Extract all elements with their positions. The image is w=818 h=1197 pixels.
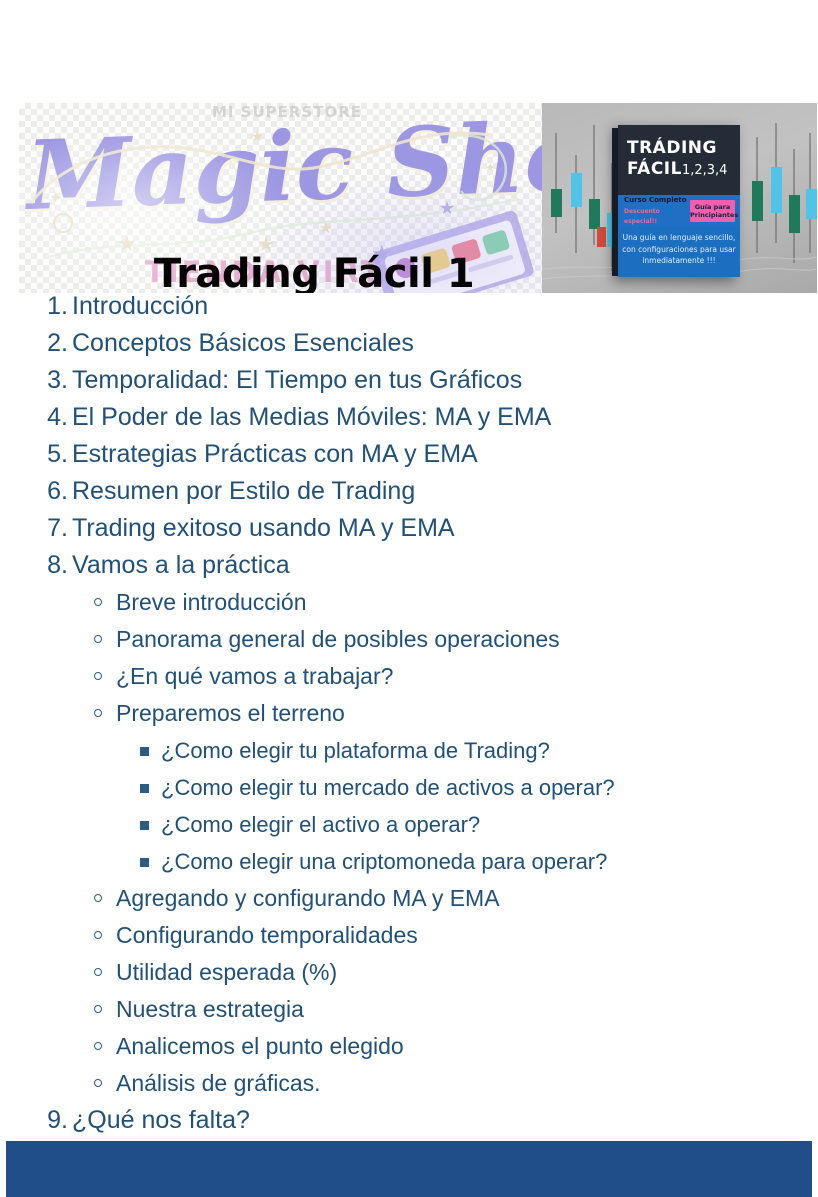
toc-item-7-label: Trading exitoso usando MA y EMA: [72, 514, 455, 542]
toc-item-4-number: 4: [44, 399, 68, 436]
circle-bullet-icon: [94, 931, 102, 939]
toc-item-3[interactable]: 3 Temporalidad: El Tiempo en tus Gráfico…: [72, 362, 818, 399]
square-bullet-icon: [140, 821, 149, 830]
toc-subitem-label: Nuestra estrategia: [116, 996, 304, 1022]
square-bullet-icon: [140, 784, 149, 793]
toc-item-9-number: 9: [44, 1102, 68, 1139]
toc-item-8-number: 8: [44, 547, 68, 584]
toc-level3-list: ¿Como elegir tu plataforma de Trading? ¿…: [116, 732, 818, 880]
toc-subitem-en-que-vamos-a-trabajar[interactable]: ¿En qué vamos a trabajar?: [116, 658, 818, 695]
book-cover-mockup: TRÁDING FÁCIL1,2,3,4 Curso Completo Desc…: [618, 125, 740, 277]
toc-item-5-number: 5: [44, 436, 68, 473]
toc-subitem-label: Agregando y configurando MA y EMA: [116, 885, 500, 911]
toc-subitem-label: Análisis de gráficas.: [116, 1070, 321, 1096]
circle-bullet-icon: [94, 1079, 102, 1087]
toc-subitem-label: Breve introducción: [116, 589, 307, 615]
toc-subitem-label: Preparemos el terreno: [116, 700, 345, 726]
book-title-line1: TRÁDING: [627, 138, 735, 159]
toc-subsubitem-activo[interactable]: ¿Como elegir el activo a operar?: [161, 806, 818, 843]
toc-item-6-label: Resumen por Estilo de Trading: [72, 477, 415, 505]
header-banner: MI SUPERSTORE Magic Shop ✦ ★ ★ ★ ★ ★ ★ ✦…: [19, 103, 817, 293]
square-bullet-icon: [140, 858, 149, 867]
circle-bullet-icon: [94, 598, 102, 606]
toc-item-5-label: Estrategias Prácticas con MA y EMA: [72, 440, 478, 468]
slide-page: MI SUPERSTORE Magic Shop ✦ ★ ★ ★ ★ ★ ★ ✦…: [0, 0, 818, 1197]
toc-item-8[interactable]: 8 Vamos a la práctica Breve introducción…: [72, 547, 818, 1102]
toc-item-9-label: ¿Qué nos falta?: [72, 1106, 250, 1134]
square-bullet-icon: [140, 747, 149, 756]
toc-subsubitem-label: ¿Como elegir una criptomoneda para opera…: [161, 849, 607, 874]
toc-subitem-agregando-configurando[interactable]: Agregando y configurando MA y EMA: [116, 880, 818, 917]
toc-item-2-label: Conceptos Básicos Esenciales: [72, 329, 414, 357]
book-subtitle: Una guía en lenguaje sencillo, con confi…: [618, 227, 740, 277]
banner-book-photo: TRÁDING FÁCIL1,2,3,4 Curso Completo Desc…: [542, 103, 817, 293]
book-badges: Curso Completo Descuento especial!! Guía…: [618, 195, 740, 227]
book-badge-left: Curso Completo Descuento especial!!: [618, 195, 690, 227]
circle-bullet-icon: [94, 894, 102, 902]
toc-subitem-breve-introduccion[interactable]: Breve introducción: [116, 584, 818, 621]
toc-item-6-number: 6: [44, 473, 68, 510]
toc-level2-list: Breve introducción Panorama general de p…: [72, 584, 818, 1102]
footer-accent-bar: [6, 1141, 812, 1197]
toc-subitem-label: ¿En qué vamos a trabajar?: [116, 663, 393, 689]
banner-artwork-left: MI SUPERSTORE Magic Shop ✦ ★ ★ ★ ★ ★ ★ ✦…: [19, 103, 542, 293]
toc-subsubitem-criptomoneda[interactable]: ¿Como elegir una criptomoneda para opera…: [161, 843, 818, 880]
toc-item-7-number: 7: [44, 510, 68, 547]
toc-item-6[interactable]: 6 Resumen por Estilo de Trading: [72, 473, 818, 510]
table-of-contents: 1 Introducción 2 Conceptos Básicos Esenc…: [0, 288, 818, 1139]
circle-bullet-icon: [94, 1042, 102, 1050]
toc-subitem-label: Analicemos el punto elegido: [116, 1033, 404, 1059]
circle-bullet-icon: [94, 1005, 102, 1013]
toc-item-1-number: 1: [44, 288, 68, 325]
toc-item-7[interactable]: 7 Trading exitoso usando MA y EMA: [72, 510, 818, 547]
toc-item-5[interactable]: 5 Estrategias Prácticas con MA y EMA: [72, 436, 818, 473]
toc-item-1[interactable]: 1 Introducción: [72, 288, 818, 325]
circle-bullet-icon: [94, 709, 102, 717]
circle-bullet-icon: [94, 635, 102, 643]
book-title-numbers: 1,2,3,4: [682, 163, 727, 178]
toc-item-3-number: 3: [44, 362, 68, 399]
toc-item-2[interactable]: 2 Conceptos Básicos Esenciales: [72, 325, 818, 362]
toc-subsubitem-plataforma[interactable]: ¿Como elegir tu plataforma de Trading?: [161, 732, 818, 769]
book-badge-descuento: Descuento especial!!: [624, 207, 690, 227]
toc-item-8-label: Vamos a la práctica: [72, 551, 290, 579]
toc-item-9[interactable]: 9 ¿Qué nos falta?: [72, 1102, 818, 1139]
book-badge-pink-line2: Principiantes: [690, 211, 738, 219]
toc-item-4-label: El Poder de las Medias Móviles: MA y EMA: [72, 403, 551, 431]
book-badge-pink-line1: Guía para: [695, 203, 730, 211]
book-title: TRÁDING FÁCIL1,2,3,4: [627, 138, 735, 181]
book-title-line2: FÁCIL: [627, 159, 682, 179]
toc-subitem-analicemos-punto[interactable]: Analicemos el punto elegido: [116, 1028, 818, 1065]
toc-item-2-number: 2: [44, 325, 68, 362]
toc-level1-list: 1 Introducción 2 Conceptos Básicos Esenc…: [0, 288, 818, 1139]
toc-subsubitem-mercado[interactable]: ¿Como elegir tu mercado de activos a ope…: [161, 769, 818, 806]
toc-subitem-preparemos-el-terreno[interactable]: Preparemos el terreno ¿Como elegir tu pl…: [116, 695, 818, 880]
toc-subsubitem-label: ¿Como elegir el activo a operar?: [161, 812, 480, 837]
toc-subitem-label: Configurando temporalidades: [116, 922, 418, 948]
toc-subitem-utilidad-esperada[interactable]: Utilidad esperada (%): [116, 954, 818, 991]
toc-subitem-nuestra-estrategia[interactable]: Nuestra estrategia: [116, 991, 818, 1028]
toc-subitem-panorama-general[interactable]: Panorama general de posibles operaciones: [116, 621, 818, 658]
toc-subsubitem-label: ¿Como elegir tu mercado de activos a ope…: [161, 775, 615, 800]
toc-subitem-label: Panorama general de posibles operaciones: [116, 626, 560, 652]
toc-item-4[interactable]: 4 El Poder de las Medias Móviles: MA y E…: [72, 399, 818, 436]
toc-subitem-label: Utilidad esperada (%): [116, 959, 337, 985]
circle-bullet-icon: [94, 968, 102, 976]
toc-item-3-label: Temporalidad: El Tiempo en tus Gráficos: [72, 366, 522, 394]
toc-subitem-analisis-graficas[interactable]: Análisis de gráficas.: [116, 1065, 818, 1102]
book-badge-principiantes: Guía para Principiantes: [690, 200, 735, 222]
toc-item-1-label: Introducción: [72, 292, 208, 320]
toc-subitem-configurando-temporalidades[interactable]: Configurando temporalidades: [116, 917, 818, 954]
circle-bullet-icon: [94, 672, 102, 680]
toc-subsubitem-label: ¿Como elegir tu plataforma de Trading?: [161, 738, 550, 763]
book-badge-curso: Curso Completo: [624, 195, 690, 205]
